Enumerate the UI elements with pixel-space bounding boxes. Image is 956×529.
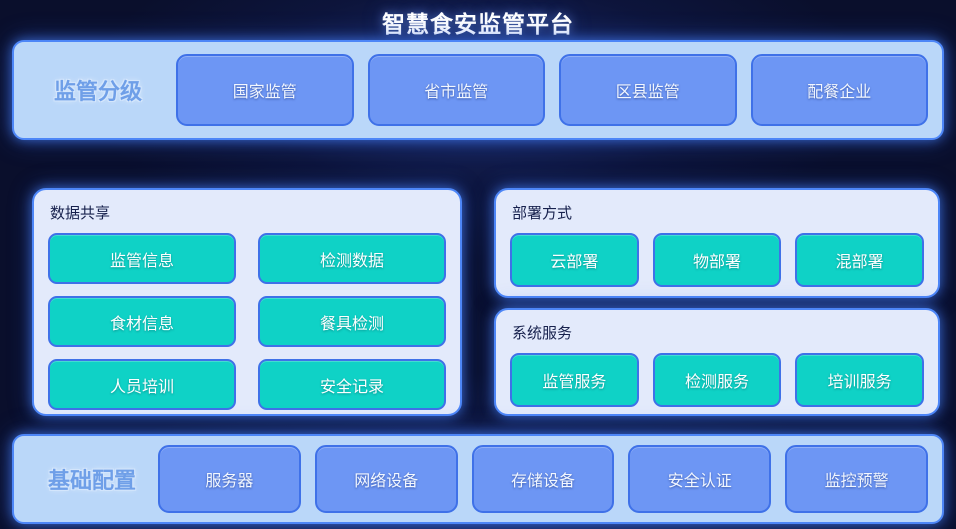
infrastructure-card-storage-device[interactable]: 存储设备 [472,445,615,513]
supervision-card-national[interactable]: 国家监管 [176,54,354,126]
system-service-card-training[interactable]: 培训服务 [795,353,924,407]
data-sharing-card-supervision-info[interactable]: 监管信息 [48,233,236,284]
system-service-card-supervision[interactable]: 监管服务 [510,353,639,407]
data-sharing-panel: 数据共享 监管信息 检测数据 食材信息 餐具检测 人员培训 安全记录 [32,188,462,416]
deployment-card-list: 云部署 物部署 混部署 [510,233,924,287]
infrastructure-card-monitoring-alert[interactable]: 监控预警 [785,445,928,513]
deployment-card-hybrid[interactable]: 混部署 [795,233,924,287]
data-sharing-card-ingredient-info[interactable]: 食材信息 [48,296,236,347]
supervision-card-provincial[interactable]: 省市监管 [368,54,546,126]
deployment-panel-title: 部署方式 [512,202,924,223]
supervision-card-list: 国家监管 省市监管 区县监管 配餐企业 [176,54,942,126]
data-sharing-panel-title: 数据共享 [50,202,446,223]
infrastructure-band: 基础配置 服务器 网络设备 存储设备 安全认证 监控预警 [12,434,944,524]
supervision-band-label: 监管分级 [54,74,142,106]
system-service-card-list: 监管服务 检测服务 培训服务 [510,353,924,407]
data-sharing-card-inspection-data[interactable]: 检测数据 [258,233,446,284]
supervision-band: 监管分级 国家监管 省市监管 区县监管 配餐企业 [12,40,944,140]
deployment-card-physical[interactable]: 物部署 [653,233,782,287]
supervision-card-catering-enterprise[interactable]: 配餐企业 [751,54,929,126]
system-service-panel-title: 系统服务 [512,322,924,343]
deployment-card-cloud[interactable]: 云部署 [510,233,639,287]
infrastructure-card-security-auth[interactable]: 安全认证 [628,445,771,513]
infrastructure-band-label: 基础配置 [48,463,136,495]
infrastructure-card-list: 服务器 网络设备 存储设备 安全认证 监控预警 [158,445,942,513]
system-service-card-inspection[interactable]: 检测服务 [653,353,782,407]
data-sharing-card-grid: 监管信息 检测数据 食材信息 餐具检测 人员培训 安全记录 [48,233,446,410]
infrastructure-card-server[interactable]: 服务器 [158,445,301,513]
infrastructure-card-network-device[interactable]: 网络设备 [315,445,458,513]
deployment-panel: 部署方式 云部署 物部署 混部署 [494,188,940,298]
data-sharing-card-safety-records[interactable]: 安全记录 [258,359,446,410]
page-title: 智慧食安监管平台 [0,5,956,39]
platform-architecture-diagram: 智慧食安监管平台 监管分级 国家监管 省市监管 区县监管 配餐企业 数据共享 监… [0,0,956,529]
data-sharing-card-tableware-inspection[interactable]: 餐具检测 [258,296,446,347]
supervision-card-district[interactable]: 区县监管 [559,54,737,126]
data-sharing-card-staff-training[interactable]: 人员培训 [48,359,236,410]
system-service-panel: 系统服务 监管服务 检测服务 培训服务 [494,308,940,416]
